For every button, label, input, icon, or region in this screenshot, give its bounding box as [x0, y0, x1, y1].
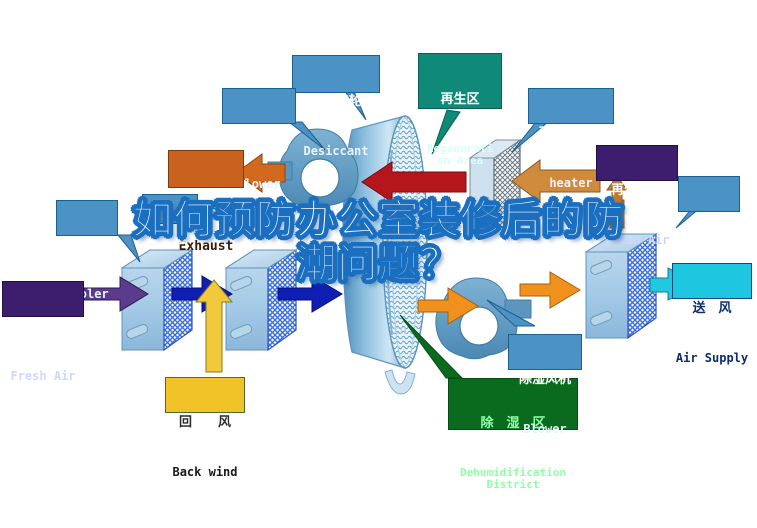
callout-regeneration-heater-cn: 再生加热器	[529, 127, 613, 142]
callout-air-supply-cn: 送 风	[673, 302, 751, 317]
callout-fresh-air-en: Fresh Air	[3, 370, 83, 383]
callout-dehumidification-blower-cn: 除湿风机	[509, 373, 581, 388]
dehumidifier-diagram: 除湿转轮 Desiccant 再生风机 Blower 再生区 Regenerat…	[0, 0, 757, 488]
page-title-line2: 潮问题？	[0, 242, 757, 286]
page-title: 如何预防办公室装修后的防 潮问题？	[0, 198, 757, 286]
callout-regeneration-area-en: Regenerati on Area	[419, 143, 501, 168]
callout-back-wind-cn: 回 风	[166, 416, 244, 431]
callout-back-wind-en: Back wind	[166, 466, 244, 479]
callout-air-supply-en: Air Supply	[673, 352, 751, 365]
callout-regeneration-fresh-air: 再生风进 Fresh Air	[596, 145, 678, 181]
callout-regeneration-area: 再生区 Regenerati on Area	[418, 53, 502, 109]
callout-exhaust: 再生风出 Exhaust	[168, 150, 244, 188]
callout-regeneration-blower: 再生风机 Blower	[222, 88, 296, 124]
callout-desiccant-wheel: 除湿转轮 Desiccant	[292, 55, 380, 93]
callout-desiccant-wheel-en: Desiccant	[293, 145, 379, 158]
callout-dehumidification-blower-en: Blower	[509, 423, 581, 436]
callout-dehumidification-blower: 除湿风机 Blower	[508, 334, 582, 370]
callout-fresh-air: 新 风 Fresh Air	[2, 281, 84, 317]
page-title-line1: 如何预防办公室装修后的防	[0, 198, 757, 242]
callout-back-wind: 回 风 Back wind	[165, 377, 245, 413]
watermark: xn	[392, 322, 407, 339]
callout-desiccant-wheel-cn: 除湿转轮	[293, 95, 379, 110]
callout-regeneration-area-cn: 再生区	[419, 93, 501, 108]
callout-regeneration-heater: 再生加热器 heater	[528, 88, 614, 124]
callout-fresh-air-cn: 新 风	[3, 320, 83, 335]
callout-regeneration-blower-cn: 再生风机	[223, 128, 295, 143]
